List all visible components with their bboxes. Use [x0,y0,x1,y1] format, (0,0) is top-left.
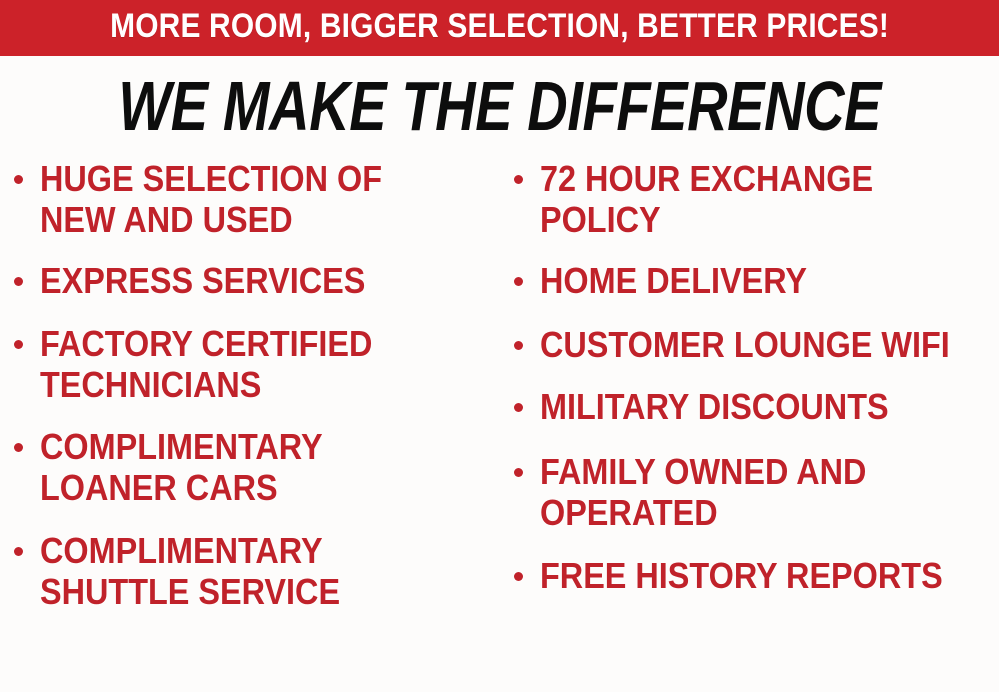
bullet-dot-icon [514,386,540,412]
top-promo-banner-text: MORE ROOM, BIGGER SELECTION, BETTER PRIC… [110,9,889,43]
list-item: HUGE SELECTION OF NEW AND USED [14,158,504,240]
list-item: FAMILY OWNED AND OPERATED [514,451,999,533]
bullet-dot-icon [14,530,40,556]
list-item-label: HOME DELIVERY [540,260,953,301]
list-item-label: COMPLIMENTARY SHUTTLE SERVICE [40,530,458,612]
list-item-label: 72 HOUR EXCHANGE POLICY [540,158,953,240]
list-item: FREE HISTORY REPORTS [514,555,999,596]
list-item: MILITARY DISCOUNTS [514,386,999,427]
list-item-label: HUGE SELECTION OF NEW AND USED [40,158,458,240]
bullet-dot-icon [14,158,40,184]
list-item: 72 HOUR EXCHANGE POLICY [514,158,999,240]
bullet-dot-icon [514,324,540,350]
bullet-dot-icon [514,260,540,286]
list-item: COMPLIMENTARY SHUTTLE SERVICE [14,530,504,612]
bullet-dot-icon [14,260,40,286]
list-item-label: FAMILY OWNED AND OPERATED [540,451,953,533]
bullet-dot-icon [514,451,540,477]
benefits-columns: HUGE SELECTION OF NEW AND USED EXPRESS S… [0,158,999,692]
top-promo-banner-inner: MORE ROOM, BIGGER SELECTION, BETTER PRIC… [0,0,999,52]
list-item-label: CUSTOMER LOUNGE WIFI [540,324,953,365]
headline-container: WE MAKE THE DIFFERENCE [0,70,999,142]
list-item: COMPLIMENTARY LOANER CARS [14,426,504,508]
list-item-label: COMPLIMENTARY LOANER CARS [40,426,458,508]
list-item-label: MILITARY DISCOUNTS [540,386,953,427]
top-promo-banner: MORE ROOM, BIGGER SELECTION, BETTER PRIC… [0,0,999,56]
list-item: EXPRESS SERVICES [14,260,504,301]
benefits-column-right: 72 HOUR EXCHANGE POLICY HOME DELIVERY CU… [514,158,999,620]
promo-banner-page: MORE ROOM, BIGGER SELECTION, BETTER PRIC… [0,0,999,692]
list-item-label: EXPRESS SERVICES [40,260,458,301]
list-item: CUSTOMER LOUNGE WIFI [514,324,999,365]
list-item: FACTORY CERTIFIED TECHNICIANS [14,323,504,405]
list-item: HOME DELIVERY [514,260,999,301]
page-title: WE MAKE THE DIFFERENCE [118,71,881,141]
list-item-label: FREE HISTORY REPORTS [540,555,953,596]
bullet-dot-icon [14,426,40,452]
bullet-dot-icon [14,323,40,349]
bullet-dot-icon [514,158,540,184]
bullet-dot-icon [514,555,540,581]
list-item-label: FACTORY CERTIFIED TECHNICIANS [40,323,458,405]
benefits-column-left: HUGE SELECTION OF NEW AND USED EXPRESS S… [14,158,504,635]
